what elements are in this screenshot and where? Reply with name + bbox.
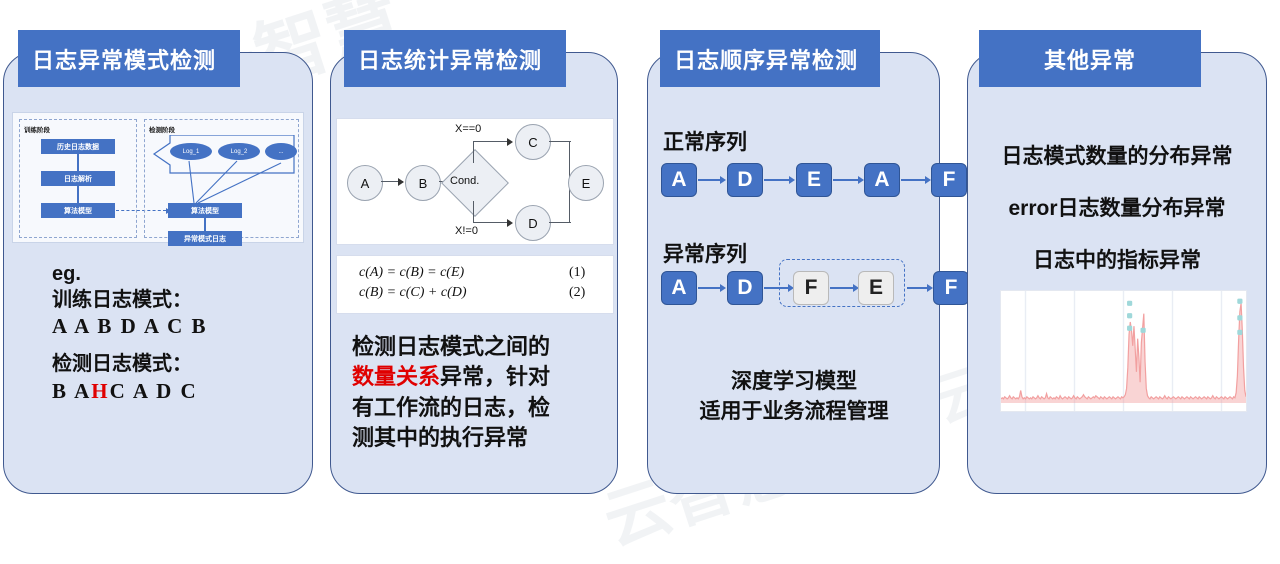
panel-header-log-statistic-anomaly: 日志统计异常检测 <box>344 30 566 87</box>
seq-arrow <box>764 179 789 181</box>
panel3-text-block: 深度学习模型 适用于业务流程管理 <box>660 367 928 428</box>
train-pattern-label: 训练日志模式： <box>52 288 302 314</box>
normal-sequence-label: 正常序列 <box>663 126 747 156</box>
arrow-down <box>204 218 206 231</box>
other-anomaly-bullet-2: 日志中的指标异常 <box>967 244 1267 274</box>
panel2-flowchart: A B Cond. X==0 C X!=0 D E <box>336 118 614 245</box>
seq-arrow <box>907 287 927 289</box>
panel-header-log-sequence-anomaly: 日志顺序异常检测 <box>660 30 880 87</box>
metric-anomaly-chart <box>1000 290 1247 412</box>
other-anomaly-bullet-0: 日志模式数量的分布异常 <box>967 140 1267 170</box>
detect-pattern-prefix: B A <box>52 379 91 403</box>
panel1-text-block: eg. 训练日志模式： A A B D A C B 检测日志模式： B AHC … <box>52 262 302 405</box>
arrow-head <box>398 178 404 186</box>
seq-box-abnormal-1: D <box>727 271 763 305</box>
log-ellipse-more: ... <box>265 143 297 160</box>
node-historical-log-data: 历史日志数据 <box>41 139 115 154</box>
equation-2-expression: c(B) = c(C) + c(D) <box>359 285 467 301</box>
equation-1-number: (1) <box>569 265 585 281</box>
flow-node-a: A <box>347 165 383 201</box>
seq-arrow <box>698 287 720 289</box>
panel2-text-block: 检测日志模式之间的 数量关系异常，针对 有工作流的日志，检 测其中的执行异常 <box>352 332 608 453</box>
detect-pattern-label: 检测日志模式： <box>52 352 302 378</box>
arrow-head <box>507 138 513 146</box>
other-anomaly-bullet-1: error日志数量分布异常 <box>967 192 1267 222</box>
arrow-down <box>77 186 79 203</box>
panel2-text-line1: 检测日志模式之间的 <box>352 332 608 362</box>
panel2-equation-box: c(A) = c(B) = c(E) (1) c(B) = c(C) + c(D… <box>336 255 614 314</box>
panel2-text-line4: 测其中的执行异常 <box>352 423 608 453</box>
node-algorithm-model-train: 算法模型 <box>41 203 115 218</box>
node-anomaly-pattern-log: 异常模式日志 <box>168 231 242 246</box>
seq-box-abnormal-4: F <box>933 271 969 305</box>
seq-arrow <box>901 179 925 181</box>
chart-svg <box>1001 291 1246 411</box>
arrow-head <box>507 219 513 227</box>
eg-label: eg. <box>52 262 302 288</box>
node-algorithm-model-detect: 算法模型 <box>168 203 242 218</box>
panel2-highlight-quantity-relation: 数量关系 <box>352 364 440 389</box>
detect-pattern-anomalous-char: H <box>91 379 109 403</box>
flow-edge <box>473 201 474 223</box>
branch-label-false: X!=0 <box>455 225 478 237</box>
panel2-text-line3: 有工作流的日志，检 <box>352 393 608 423</box>
abnormal-sequence-label: 异常序列 <box>663 238 747 268</box>
flow-edge <box>549 222 571 223</box>
flow-edge <box>549 141 571 142</box>
normal-sequence-row: A D E A F <box>661 163 936 199</box>
flow-node-c: C <box>515 124 551 160</box>
flow-node-condition-label: Cond. <box>450 175 479 187</box>
seq-arrow <box>833 179 858 181</box>
panel3-text-line2: 适用于业务流程管理 <box>660 397 928 427</box>
log-feed-lines <box>163 159 303 205</box>
flow-node-d: D <box>515 205 551 241</box>
log-ellipse-2: Log_2 <box>218 143 260 160</box>
log-ellipse-1: Log_1 <box>170 143 212 160</box>
flow-node-b: B <box>405 165 441 201</box>
train-pattern-value: A A B D A C B <box>52 313 302 340</box>
branch-label-true: X==0 <box>455 123 481 135</box>
flow-edge <box>473 141 474 163</box>
node-log-parse: 日志解析 <box>41 171 115 186</box>
detect-pattern-suffix: C A D C <box>110 379 198 403</box>
flow-node-e: E <box>568 165 604 201</box>
equation-2-number: (2) <box>569 285 585 301</box>
seq-box-abnormal-0: A <box>661 271 697 305</box>
seq-arrow <box>764 287 788 289</box>
seq-box-normal-1: D <box>727 163 763 197</box>
flow-edge <box>473 141 511 142</box>
seq-box-normal-0: A <box>661 163 697 197</box>
seq-box-normal-3: A <box>864 163 900 197</box>
seq-box-normal-2: E <box>796 163 832 197</box>
panel-header-other-anomaly: 其他异常 <box>979 30 1201 87</box>
panel2-text-line2-rest: 异常，针对 <box>440 364 550 389</box>
seq-arrow <box>698 179 720 181</box>
detection-phase-label: 检测阶段 <box>149 124 175 134</box>
panel3-text-line1: 深度学习模型 <box>660 367 928 397</box>
arrow-down <box>77 154 79 171</box>
training-phase-label: 训练阶段 <box>24 124 50 134</box>
abnormal-sequence-row: A D F E F <box>661 265 941 313</box>
panel-header-log-pattern-anomaly: 日志异常模式检测 <box>18 30 240 87</box>
seq-box-abnormal-3: E <box>858 271 894 305</box>
panel1-diagram: 训练阶段 历史日志数据 日志解析 算法模型 检测阶段 Log_1 Log_2 .… <box>12 112 304 243</box>
flow-edge <box>473 222 511 223</box>
seq-box-abnormal-2: F <box>793 271 829 305</box>
panel2-text-line2: 数量关系异常，针对 <box>352 362 608 392</box>
detect-pattern-value: B AHC A D C <box>52 378 302 405</box>
seq-box-normal-4: F <box>931 163 967 197</box>
equation-1-expression: c(A) = c(B) = c(E) <box>359 265 464 281</box>
seq-arrow <box>830 287 853 289</box>
slide-canvas: 云智慧 云智慧 云智慧 云智慧 训练阶段 历史日志数据 日志解析 算法模型 检测… <box>0 0 1280 517</box>
